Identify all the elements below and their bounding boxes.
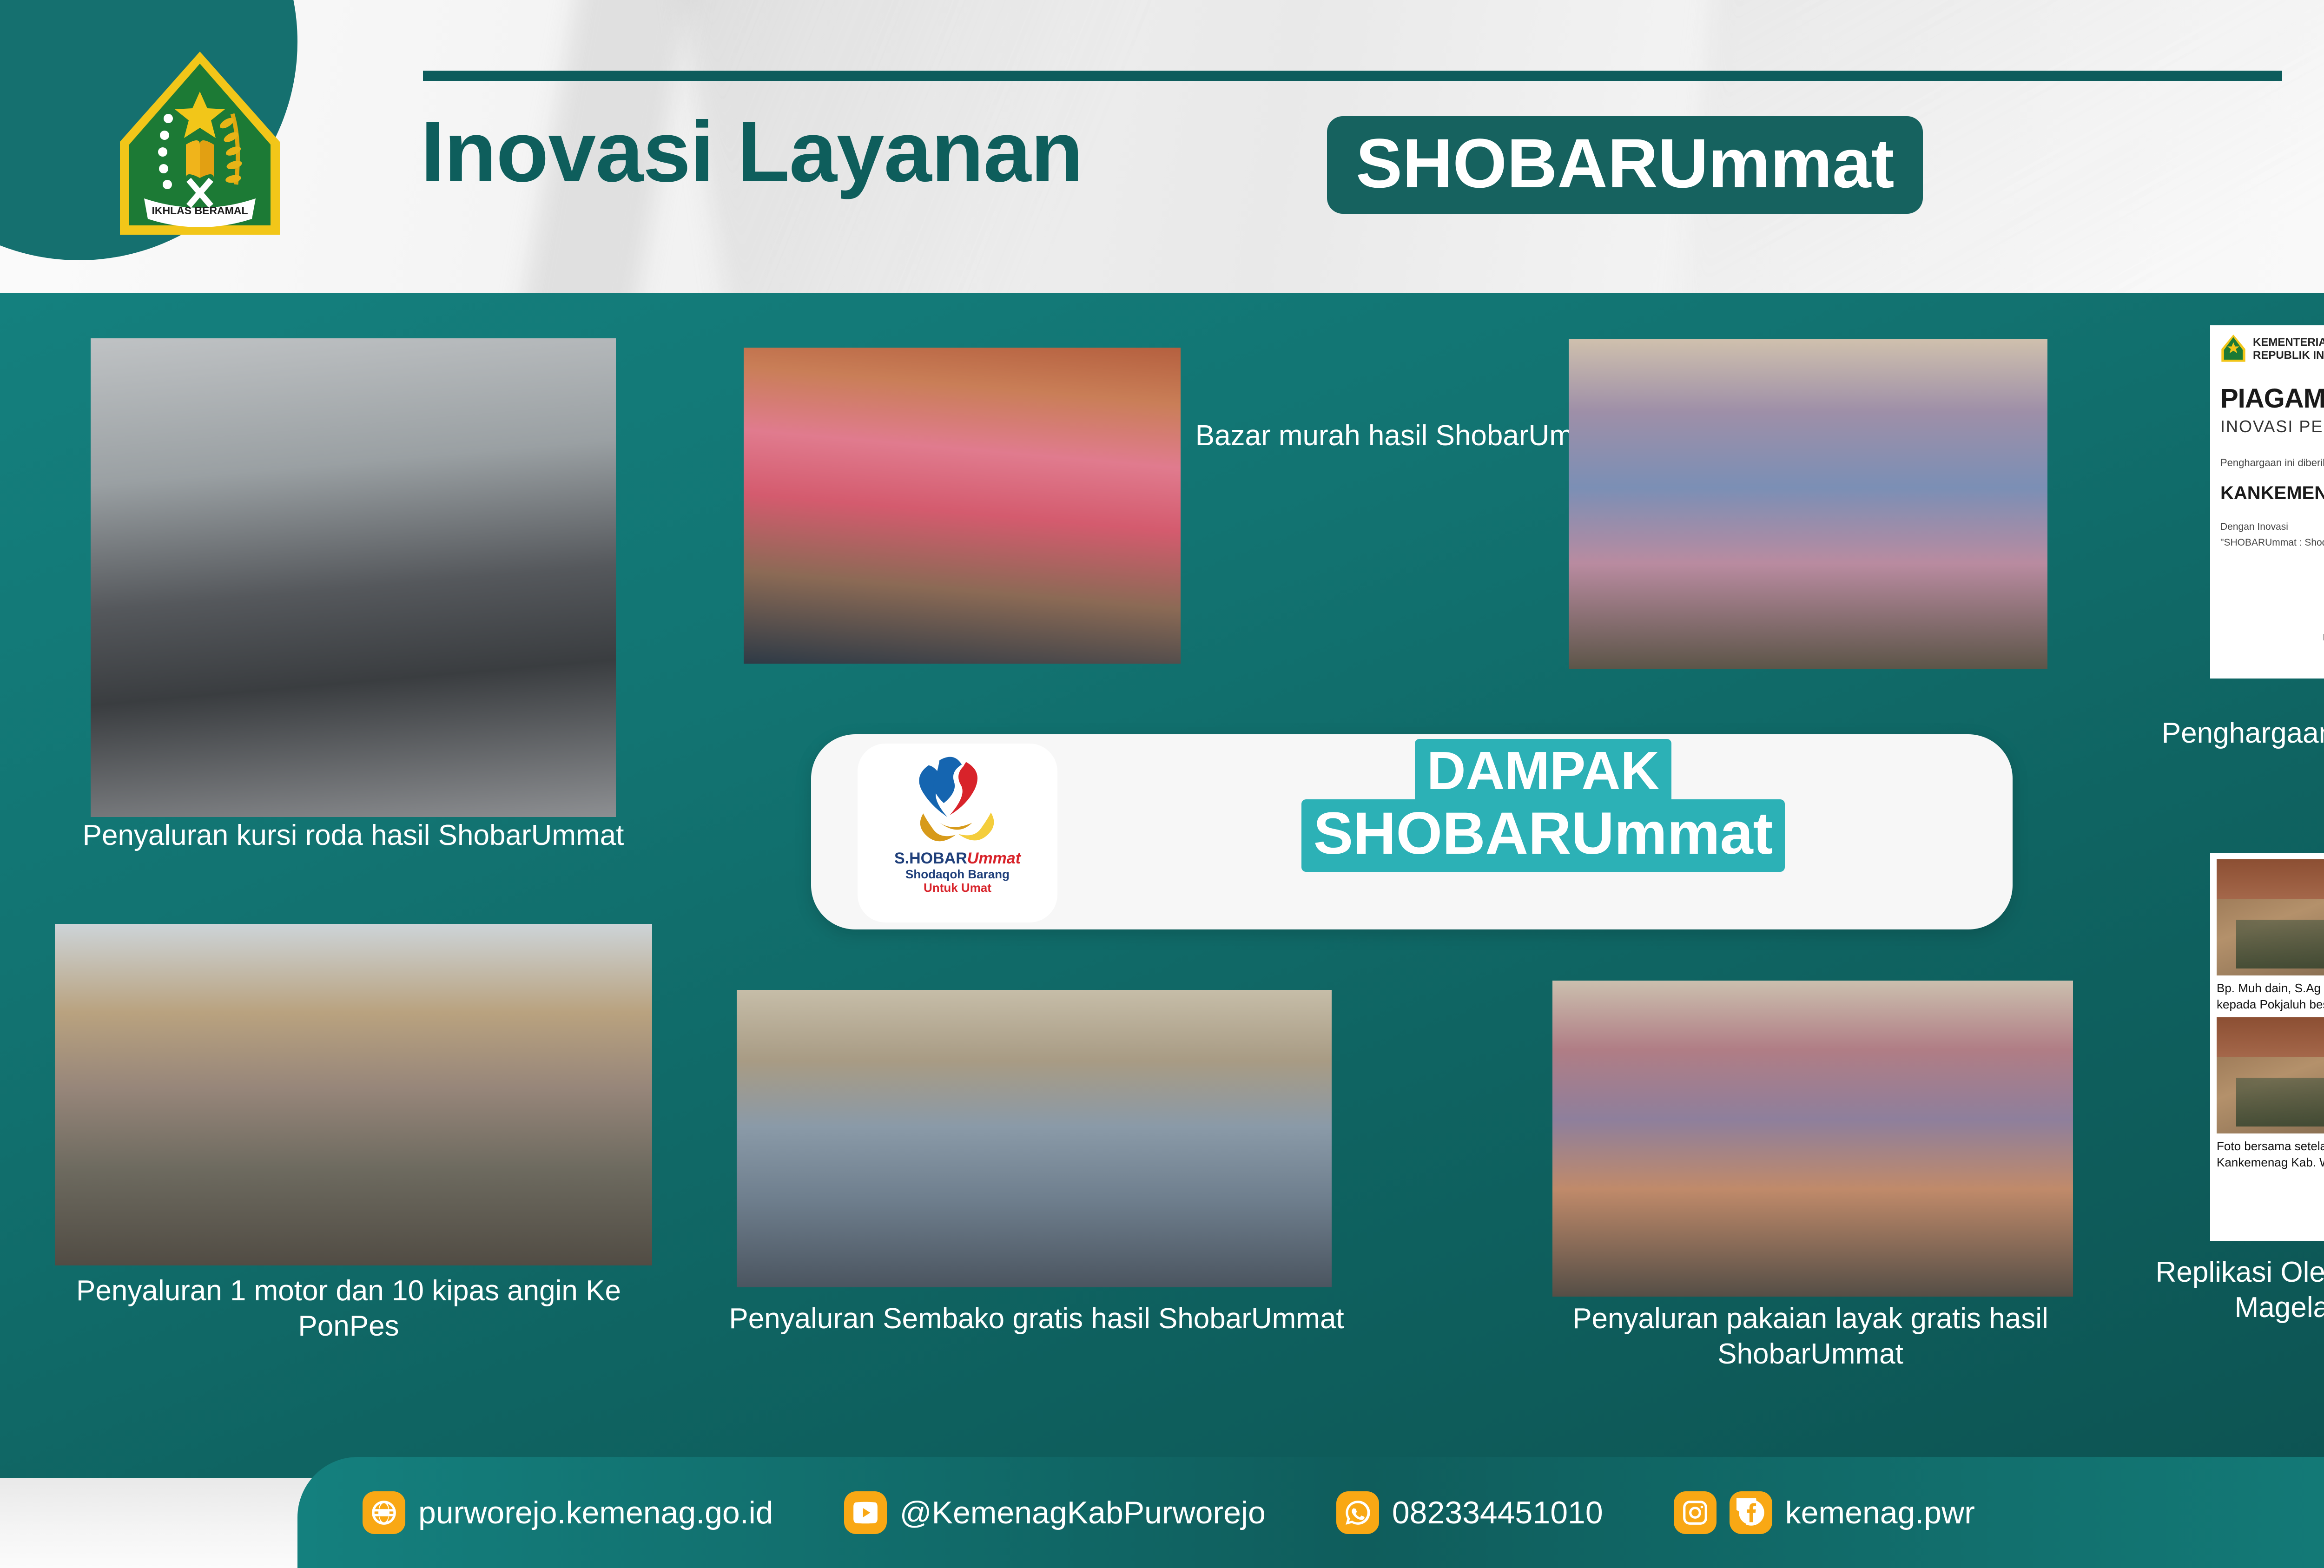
globe-icon	[363, 1491, 405, 1534]
certificate-org-line2: REPUBLIK INDONESIA	[2253, 349, 2324, 362]
shobarummat-logo-sub2: Untuk Umat	[894, 882, 1021, 894]
certificate-innovation-name: "SHOBARUmmat : Shodaqoh Barang untuk Umm…	[2220, 535, 2324, 550]
program-name-badge: SHOBARUmmat	[1327, 116, 1923, 214]
page-title: Inovasi Layanan	[421, 109, 1083, 195]
caption-ponpes: Penyaluran 1 motor dan 10 kipas angin Ke…	[37, 1273, 660, 1344]
kemenag-mini-shield-icon	[2220, 334, 2246, 364]
kemenag-shield-logo: IKHLAS BERAMAL	[116, 49, 284, 249]
header-rule	[423, 71, 2282, 81]
shobarummat-logo-name2: Ummat	[967, 850, 1021, 867]
footer-contact-bar: purworejo.kemenag.go.id @KemenagKabPurwo…	[297, 1457, 2324, 1568]
shobarummat-logo: S.HOBARUmmat Shodaqoh Barang Untuk Umat	[858, 744, 1057, 922]
collage-caption-top: Bp. Muh dain, S.Ag sedang memberikan pap…	[2217, 980, 2324, 1013]
caption-bazar: Bazar murah hasil ShobarUmmat	[1195, 418, 1622, 454]
dampak-line2: SHOBARUmmat	[1301, 799, 1785, 872]
collage-caption-bottom: Foto bersama setelah acara Replikasi/Kun…	[2217, 1138, 2324, 1171]
caption-pakaian: Penyaluran pakaian layak gratis hasil Sh…	[1525, 1301, 2096, 1371]
footer-item-website[interactable]: purworejo.kemenag.go.id	[363, 1491, 773, 1534]
caption-wheelchair: Penyaluran kursi roda hasil ShobarUmmat	[60, 818, 646, 853]
collage-row-bottom	[2217, 1017, 2324, 1133]
certificate-heading: PIAGAM PENGHARGAAN	[2220, 383, 2324, 414]
certificate-place-date: Jakarta, / April 2022	[2220, 578, 2324, 592]
whatsapp-icon	[1336, 1491, 1379, 1534]
certificate-given-to-label: Penghargaan ini diberikan kepada	[2220, 457, 2324, 469]
certificate-signer-title: Sekretaris Jenderal,	[2220, 592, 2324, 606]
collage-row-top	[2217, 859, 2324, 975]
youtube-icon	[844, 1491, 887, 1534]
photo-pakaian	[1552, 981, 2073, 1297]
certificate-org-line1: KEMENTERIAN AGAMA	[2253, 336, 2324, 349]
shobarummat-heart-hands-icon	[902, 749, 1013, 848]
infographic-poster: IKHLAS BERAMAL Inovasi Layanan SHOBARUmm…	[0, 0, 2324, 1568]
shield-motto-text: IKHLAS BERAMAL	[152, 204, 248, 217]
shobarummat-logo-sub1: Shodaqoh Barang	[894, 868, 1021, 881]
photo-ponpes	[55, 924, 652, 1265]
caption-replikasi: Replikasi Oleh Kemenag Wonosobo, Kemenag…	[2138, 1255, 2324, 1325]
dampak-line1: DAMPAK	[1415, 739, 1671, 806]
caption-certificate: Penghargaan dalam Inovasi Pelayanan Publ…	[2147, 716, 2324, 751]
photo-women-bazar	[1569, 339, 2047, 669]
footer-social-label: kemenag.pwr	[1785, 1495, 1975, 1531]
collage-image-1	[2217, 859, 2324, 975]
footer-item-whatsapp[interactable]: 082334451010	[1336, 1491, 1603, 1534]
certificate-org: KEMENTERIAN AGAMA REPUBLIK INDONESIA	[2253, 336, 2324, 362]
footer-youtube-label: @KemenagKabPurworejo	[900, 1495, 1266, 1531]
collage-image-3	[2217, 1017, 2324, 1133]
poster-header: IKHLAS BERAMAL Inovasi Layanan SHOBARUmm…	[0, 0, 2324, 293]
certificate-signer-name: Prof. Dr. H. Nizar, M.Ag	[2220, 631, 2324, 645]
photo-wheelchair	[91, 338, 616, 817]
shobarummat-logo-name1: S.HOBAR	[894, 850, 967, 867]
certificate-innovation-label: Dengan Inovasi	[2220, 520, 2324, 534]
certificate-letterhead: KEMENTERIAN AGAMA REPUBLIK INDONESIA	[2220, 334, 2324, 364]
facebook-icon	[1730, 1491, 1772, 1534]
instagram-icon	[1674, 1491, 1717, 1534]
dampak-heading: DAMPAK SHOBARUmmat	[1195, 739, 1892, 872]
certificate-subheading: INOVASI PELAYANAN PUBLIK	[2220, 417, 2324, 436]
kemenag-purworejo-mantap-logo: KEMENAG PURWOREJO Mantap Melayani, Amana…	[2310, 19, 2324, 191]
caption-sembako: Penyaluran Sembako gratis hasil ShobarUm…	[725, 1301, 1348, 1337]
photo-sembako	[737, 990, 1332, 1287]
photo-bazar	[744, 348, 1181, 664]
footer-item-youtube[interactable]: @KemenagKabPurworejo	[844, 1491, 1266, 1534]
footer-item-social[interactable]: kemenag.pwr	[1674, 1491, 1975, 1534]
footer-website-label: purworejo.kemenag.go.id	[418, 1495, 773, 1531]
photo-replikasi-collage: Bp. Muh dain, S.Ag sedang memberikan pap…	[2210, 853, 2324, 1241]
certificate-recipient: KANKEMENAG KAB. PURWOREJO	[2220, 483, 2324, 504]
photo-certificate: KEMENTERIAN AGAMA REPUBLIK INDONESIA PIA…	[2210, 325, 2324, 679]
footer-whatsapp-label: 082334451010	[1392, 1495, 1603, 1531]
